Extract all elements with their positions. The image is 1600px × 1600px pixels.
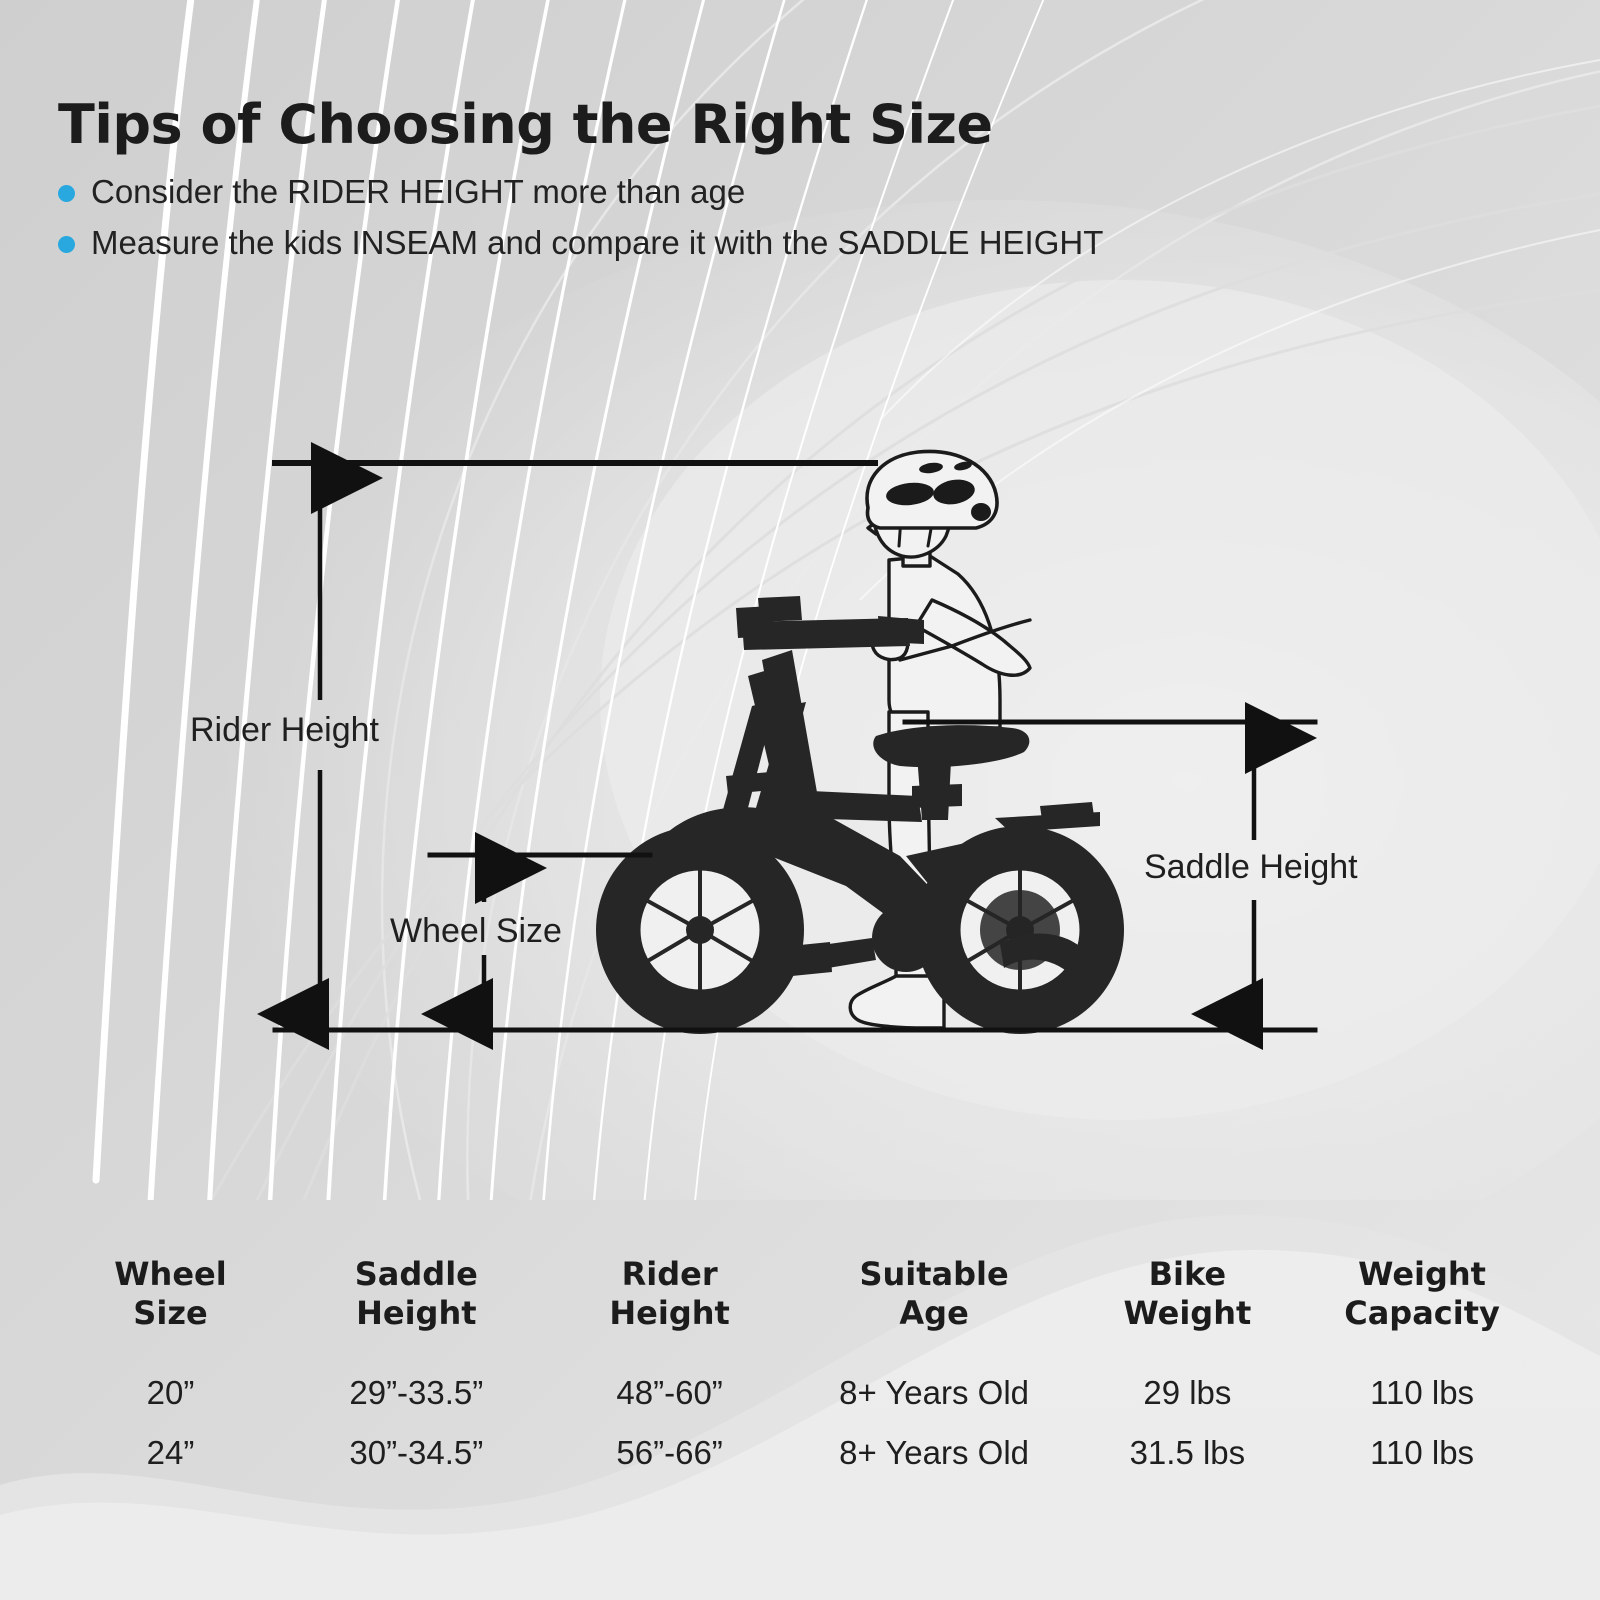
table-row: 20” 29”-33.5” 48”-60” 8+ Years Old 29 lb… [55,1363,1545,1423]
header-line-1: Saddle [290,1255,543,1294]
cell-saddle-height: 29”-33.5” [286,1363,547,1423]
rear-wheel [916,826,1124,1034]
wheel-size-label: Wheel Size [378,914,574,948]
cell-wheel-size: 20” [55,1363,286,1423]
header-line-1: Bike [1080,1255,1296,1294]
header-line-2: Weight [1080,1294,1296,1333]
cell-rider-height: 48”-60” [547,1363,793,1423]
spec-table-container: Wheel Size Saddle Height Rider Height Su… [0,1255,1600,1483]
cell-suitable-age: 8+ Years Old [793,1363,1076,1423]
column-header-weight-capacity: Weight Capacity [1299,1255,1545,1363]
cell-bike-weight: 29 lbs [1076,1363,1300,1423]
cell-saddle-height: 30”-34.5” [286,1423,547,1483]
header-line-1: Rider [551,1255,789,1294]
column-header-saddle-height: Saddle Height [286,1255,547,1363]
spec-table: Wheel Size Saddle Height Rider Height Su… [55,1255,1545,1483]
cell-bike-weight: 31.5 lbs [1076,1423,1300,1483]
cell-wheel-size: 24” [55,1423,286,1483]
column-header-suitable-age: Suitable Age [793,1255,1076,1363]
cell-rider-height: 56”-66” [547,1423,793,1483]
sizing-diagram: Rider Height Wheel Size Saddle Height [0,0,1600,1140]
ebike-illustration [596,451,1124,1034]
header-line-1: Weight [1303,1255,1541,1294]
cell-weight-capacity: 110 lbs [1299,1363,1545,1423]
header-line-1: Suitable [797,1255,1072,1294]
infographic-page: Tips of Choosing the Right Size Consider… [0,0,1600,1600]
diagram-illustration [0,0,1600,1140]
table-header-row: Wheel Size Saddle Height Rider Height Su… [55,1255,1545,1363]
saddle-height-label: Saddle Height [1132,850,1370,884]
header-line-2: Size [59,1294,282,1333]
header-line-2: Age [797,1294,1072,1333]
cell-weight-capacity: 110 lbs [1299,1423,1545,1483]
column-header-wheel-size: Wheel Size [55,1255,286,1363]
header-line-2: Capacity [1303,1294,1541,1333]
header-line-2: Height [290,1294,543,1333]
table-row: 24” 30”-34.5” 56”-66” 8+ Years Old 31.5 … [55,1423,1545,1483]
header-line-1: Wheel [59,1255,282,1294]
helmet-icon [867,451,997,528]
column-header-rider-height: Rider Height [547,1255,793,1363]
column-header-bike-weight: Bike Weight [1076,1255,1300,1363]
rider-height-label: Rider Height [178,713,391,747]
header-line-2: Height [551,1294,789,1333]
cell-suitable-age: 8+ Years Old [793,1423,1076,1483]
